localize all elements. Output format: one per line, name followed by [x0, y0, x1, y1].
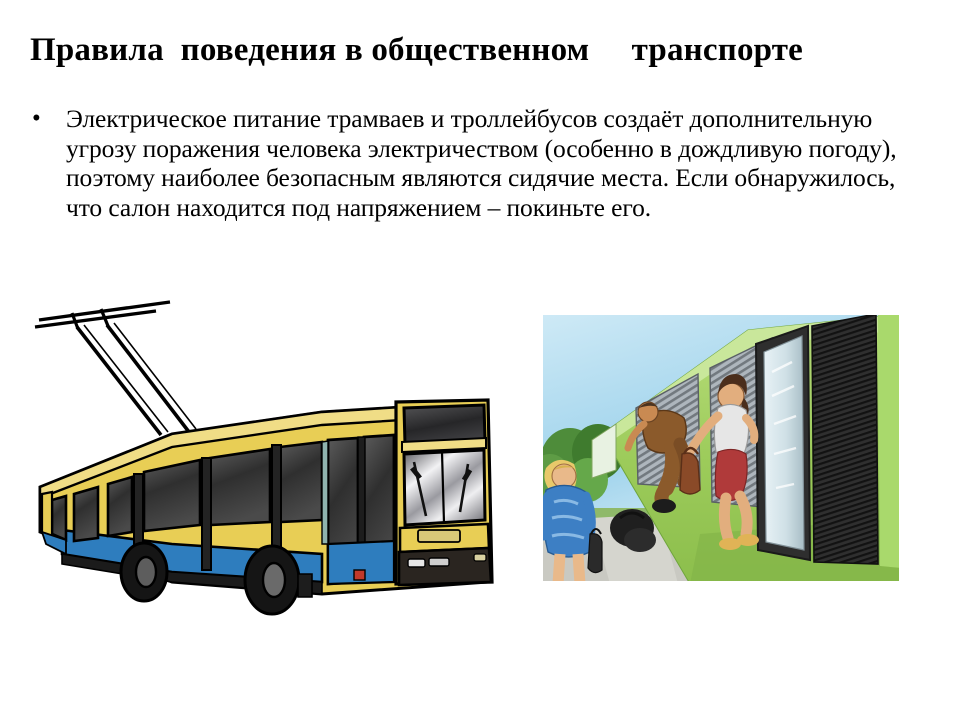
trolleybus-body	[40, 400, 492, 614]
trolley-poles-group	[35, 302, 196, 435]
watercolour-illustration	[540, 312, 902, 584]
wheel-front	[245, 546, 299, 614]
page-title: Правила поведения в общественном транспо…	[30, 30, 930, 70]
bullet-point-icon: •	[27, 104, 66, 133]
bullet-list-item: • Электрическое питание трамваев и тролл…	[27, 104, 932, 222]
body-text-block: • Электрическое питание трамваев и тролл…	[27, 104, 932, 222]
trolleybus-vector	[22, 282, 522, 662]
bullet-item-paragraph: Электрическое питание трамваев и троллей…	[66, 104, 932, 222]
watercolour-vector	[540, 312, 902, 584]
wheel-rear	[121, 543, 167, 601]
trolleybus-illustration	[22, 282, 522, 662]
slide-root: Правила поведения в общественном транспо…	[0, 0, 960, 720]
